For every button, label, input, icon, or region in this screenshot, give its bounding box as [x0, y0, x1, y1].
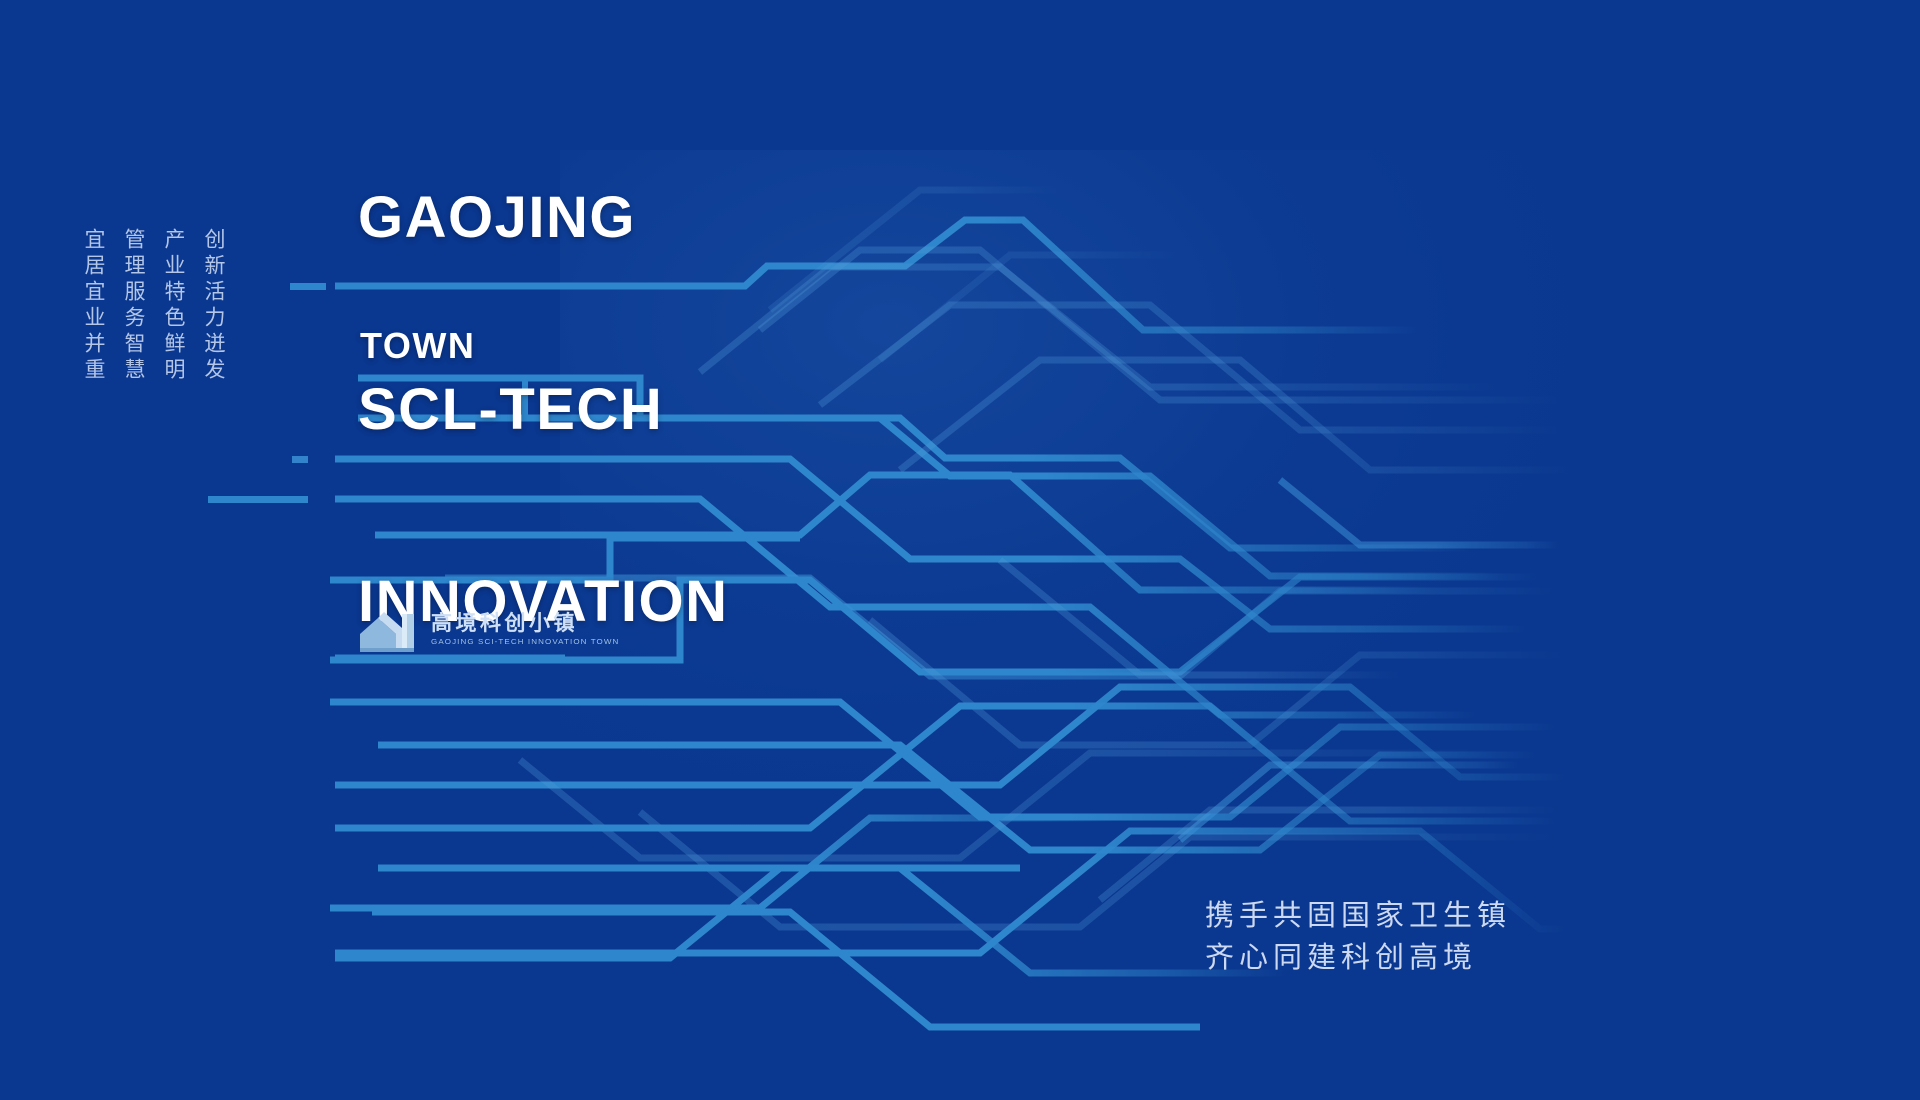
logo-chinese-name: 高境科创小镇 [431, 613, 619, 635]
brand-logo: 高境科创小镇 GAOJING SCI-TECH INNOVATION TOWN [358, 608, 619, 652]
vertical-slogan-col-4: 宜居宜业并重 [78, 228, 108, 384]
vertical-slogan-col-2: 产业特色鲜明 [158, 228, 188, 384]
vertical-slogan: 创新活力迸发 产业特色鲜明 管理服务智慧 宜居宜业并重 [78, 228, 228, 384]
bottom-slogan-line-1: 携手共固国家卫生镇 [1205, 895, 1511, 937]
bottom-slogan-line-2: 齐心同建科创高境 [1205, 937, 1511, 979]
house-building-icon [358, 608, 420, 652]
poster-canvas: .ln { fill:none; stroke:url(#fadeR); str… [0, 0, 1920, 1100]
page-title: GAOJING SCL-TECH INNOVATION [358, 58, 729, 762]
vertical-slogan-col-1: 创新活力迸发 [198, 228, 228, 384]
circuit-line-artwork: .ln { fill:none; stroke:url(#fadeR); str… [0, 0, 1920, 1100]
title-line-2: SCL-TECH [358, 378, 729, 442]
vertical-slogan-col-3: 管理服务智慧 [118, 228, 148, 384]
bottom-slogan: 携手共固国家卫生镇 齐心同建科创高境 [1205, 895, 1511, 979]
title-line-1: GAOJING [358, 186, 729, 250]
logo-english-name: GAOJING SCI-TECH INNOVATION TOWN [431, 637, 619, 646]
logo-text-block: 高境科创小镇 GAOJING SCI-TECH INNOVATION TOWN [431, 613, 619, 647]
title-line-4: TOWN [360, 325, 475, 367]
